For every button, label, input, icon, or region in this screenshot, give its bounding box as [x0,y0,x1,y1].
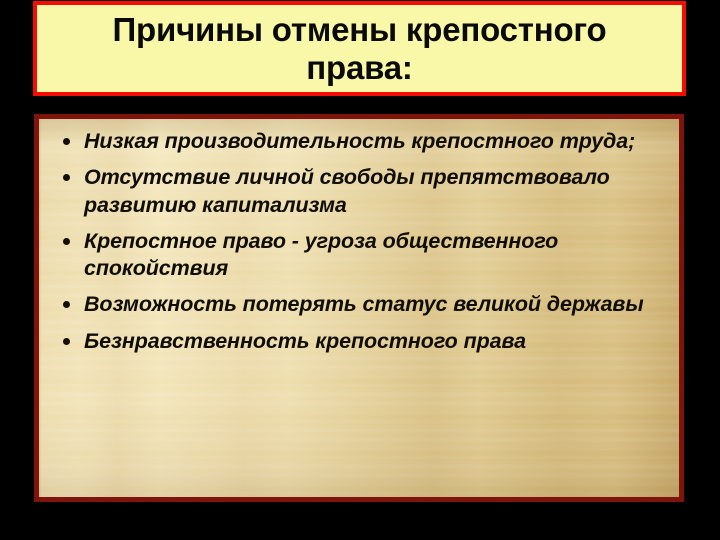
slide-content-box: Низкая производительность крепостного тр… [34,114,684,502]
bullet-dot-icon [63,174,70,181]
bullet-dot-icon [63,301,70,308]
slide-title-line-1: Причины отмены крепостного [47,11,672,48]
list-item-label: Возможность потерять статус великой держ… [84,292,644,316]
bullet-dot-icon [63,138,70,145]
slide-title-line-2: права: [47,49,672,86]
list-item: Крепостное право - угроза общественного … [62,228,667,283]
list-item: Возможность потерять статус великой держ… [62,291,667,318]
list-item-label: Крепостное право - угроза общественного … [84,229,558,280]
list-item: Низкая производительность крепостного тр… [62,128,667,155]
list-item: Безнравственность крепостного права [62,328,667,355]
list-item-label: Безнравственность крепостного права [84,329,526,353]
slide-title-box: Причины отмены крепостного права: [33,1,686,96]
bullet-list: Низкая производительность крепостного тр… [39,119,679,355]
list-item-label: Низкая производительность крепостного тр… [84,129,635,153]
page-title: Причины отмены крепостного права: [47,11,672,86]
list-item: Отсутствие личной свободы препятствовало… [62,164,667,219]
bullet-dot-icon [63,238,70,245]
slide-root: Причины отмены крепостного права: Низкая… [0,0,720,540]
bullet-dot-icon [63,338,70,345]
list-item-label: Отсутствие личной свободы препятствовало… [84,165,610,216]
